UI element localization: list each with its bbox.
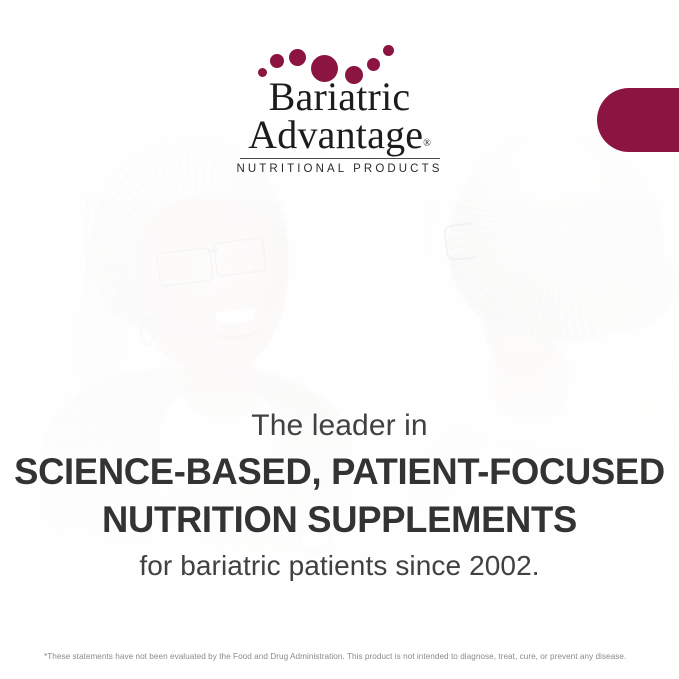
headline-block: The leader in SCIENCE-BASED, PATIENT-FOC… (0, 408, 679, 582)
headline-post: for bariatric patients since 2002. (0, 550, 679, 582)
headline-main-line2: NUTRITION SUPPLEMENTS (10, 497, 669, 541)
logo-tagline: NUTRITIONAL PRODUCTS (0, 163, 679, 175)
headline-pre: The leader in (0, 408, 679, 445)
logo-divider (240, 158, 440, 159)
logo-name-line2-text: Advantage (248, 112, 423, 157)
fda-disclaimer: *These statements have not been evaluate… (44, 652, 645, 662)
brand-logo: Bariatric Advantage® NUTRITIONAL PRODUCT… (0, 44, 679, 175)
logo-dots-icon (250, 44, 430, 84)
advertisement-banner: Bariatric Advantage® NUTRITIONAL PRODUCT… (0, 0, 679, 679)
registered-trademark-icon: ® (423, 138, 431, 149)
headline-main-line1: SCIENCE-BASED, PATIENT-FOCUSED (10, 449, 669, 493)
logo-wordmark: Bariatric Advantage® (0, 78, 679, 154)
logo-name-line2: Advantage® (0, 116, 679, 154)
